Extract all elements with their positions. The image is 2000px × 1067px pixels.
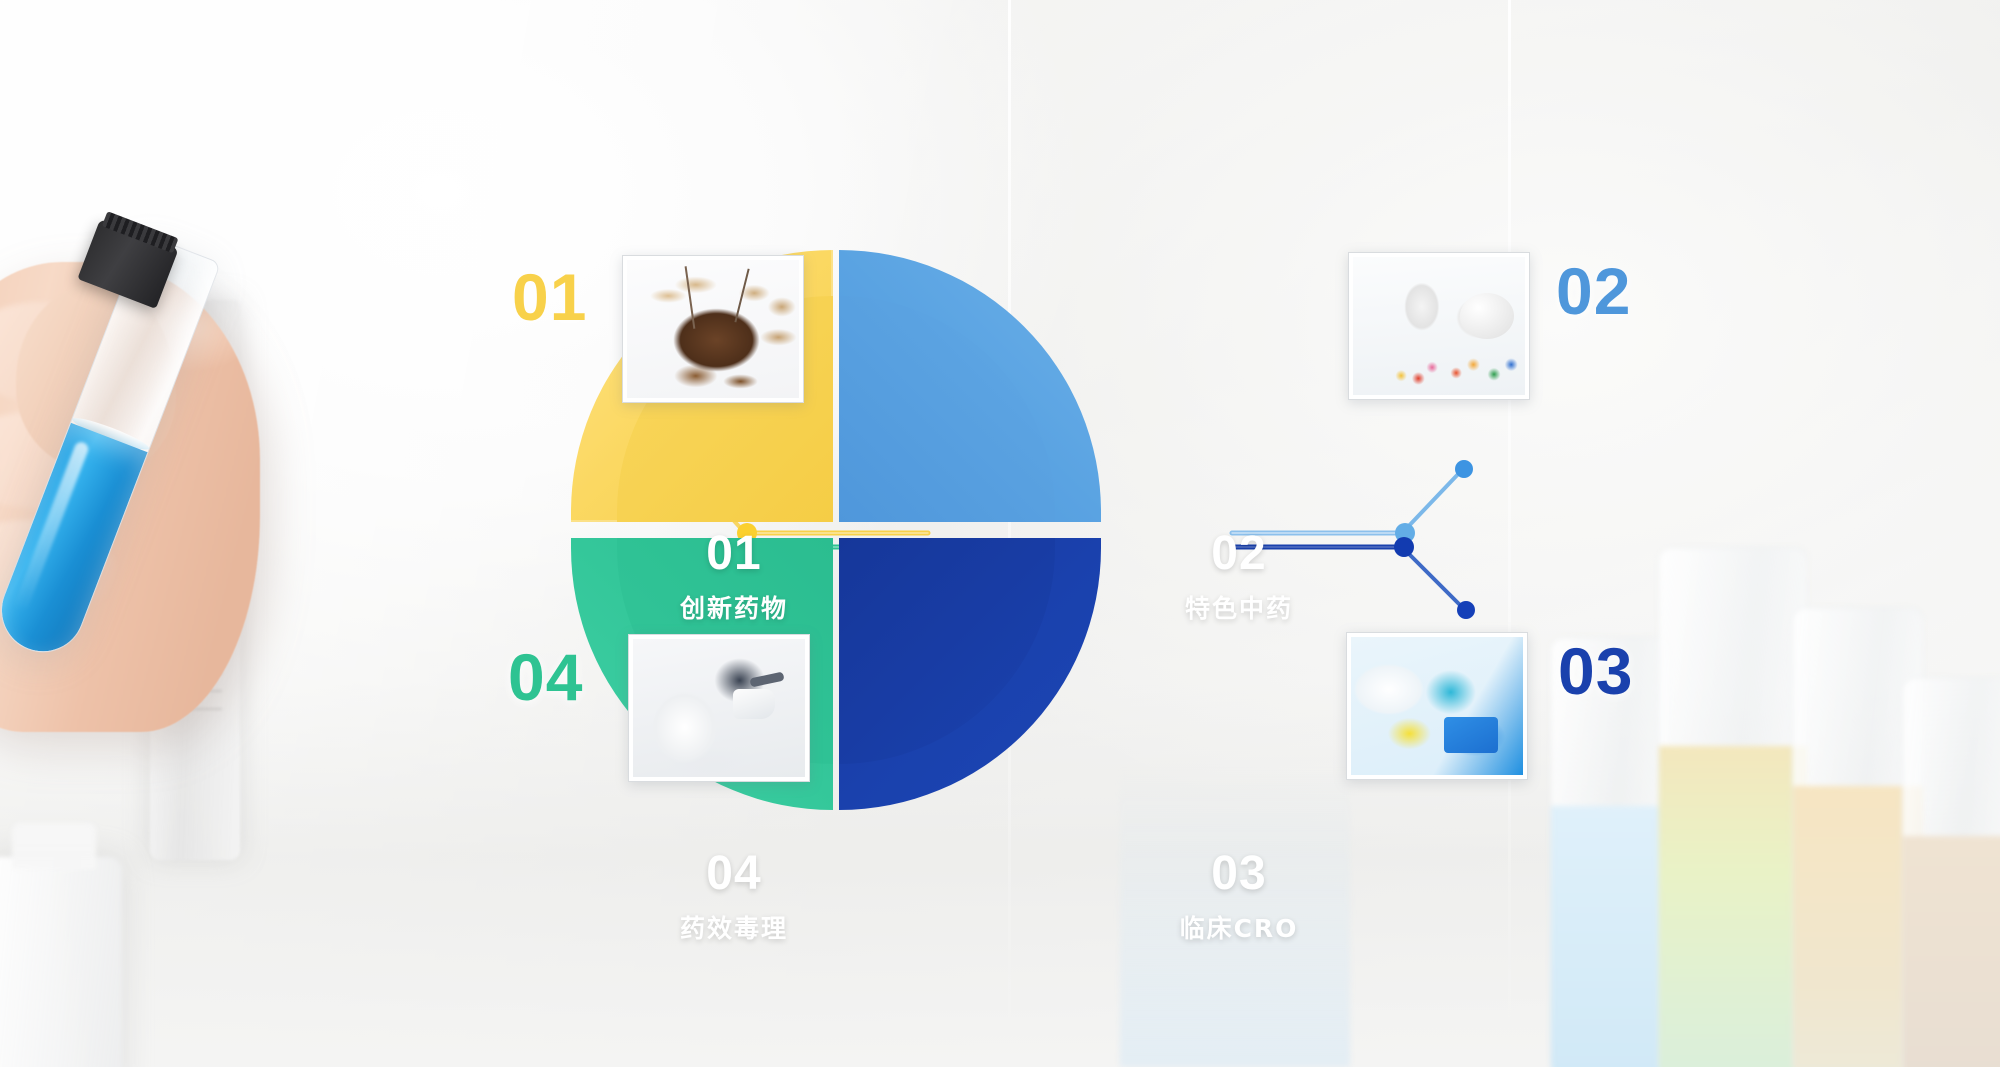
quadrant-02-label: 02 特色中药 <box>1105 530 1373 625</box>
thumbnail-card-01[interactable] <box>622 255 804 403</box>
quadrant-04-label: 04 药效毒理 <box>600 850 868 945</box>
quadrant-03-number: 03 <box>1105 850 1373 898</box>
quadrant-03-title: 临床CRO <box>1105 909 1373 945</box>
clinical-lab-photo <box>1351 637 1523 775</box>
quadrant-04-title: 药效毒理 <box>600 909 868 945</box>
side-number-02: 02 <box>1556 258 1631 324</box>
connector-02-light-blue <box>1232 460 1473 543</box>
thumbnail-card-04[interactable] <box>628 634 810 782</box>
four-quadrant-infographic: 01 创新药物 02 特色中药 04 药效毒理 03 临床CRO 01 02 0… <box>0 0 2000 1067</box>
quadrant-03-clinical-cro[interactable] <box>839 538 1101 810</box>
quadrant-03-label: 03 临床CRO <box>1105 850 1373 945</box>
herbal-medicine-photo <box>627 260 799 398</box>
lab-researcher-photo <box>633 639 805 777</box>
side-number-03: 03 <box>1558 638 1633 704</box>
pills-and-bottles-photo <box>1353 257 1525 395</box>
quadrant-02-traditional-chinese-medicine[interactable] <box>839 250 1101 522</box>
quadrant-04-number: 04 <box>600 850 868 898</box>
connector-03-dark-blue <box>1232 537 1475 619</box>
side-number-01: 01 <box>512 264 587 330</box>
quadrant-wheel <box>833 250 1101 810</box>
thumbnail-card-03[interactable] <box>1346 632 1528 780</box>
thumbnail-card-02[interactable] <box>1348 252 1530 400</box>
quadrant-02-title: 特色中药 <box>1105 589 1373 625</box>
side-number-04: 04 <box>508 644 583 710</box>
quadrant-02-number: 02 <box>1105 530 1373 578</box>
